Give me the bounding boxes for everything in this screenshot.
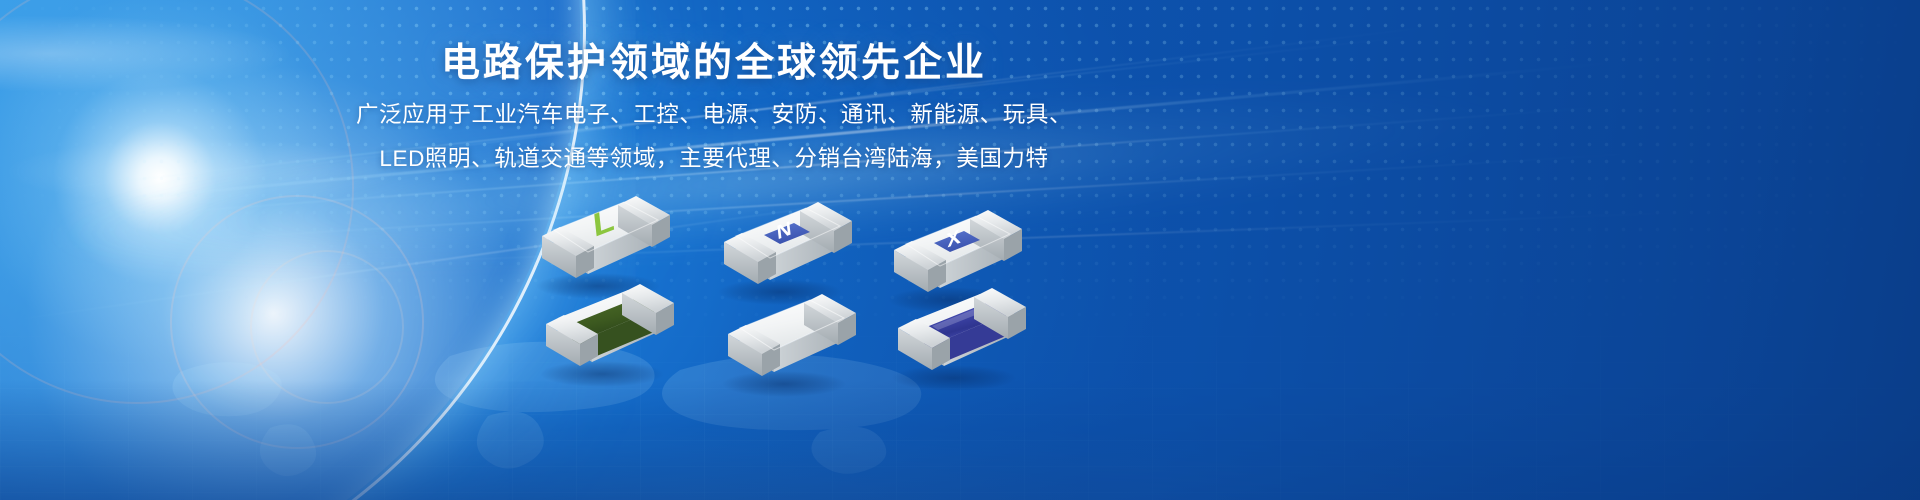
product-fuse-purple	[876, 282, 1026, 392]
product-showcase: L N	[0, 0, 1920, 500]
fuse-mark-l: L	[591, 201, 616, 245]
product-fuse-dark-green	[524, 278, 674, 388]
hero-banner: 电路保护领域的全球领先企业 广泛应用于工业汽车电子、工控、电源、安防、通讯、新能…	[0, 0, 1920, 500]
product-fuse-plain	[706, 288, 856, 398]
